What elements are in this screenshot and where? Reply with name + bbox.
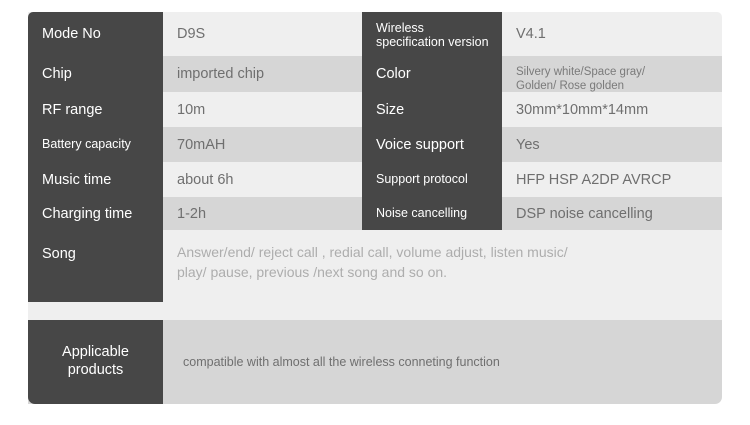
value-color-line2: Golden/ Rose golden [516,79,722,93]
value-wireless-specification-version: V4.1 [502,12,722,56]
label-wireless-specification-version: Wireless specification version [362,12,502,56]
label-charging-time: Charging time [28,197,163,230]
value-charging-time: 1-2h [163,197,362,230]
label-music-time: Music time [28,162,163,197]
value-music-time: about 6h [163,162,362,197]
value-rf-range: 10m [163,92,362,127]
value-noise-cancelling: DSP noise cancelling [502,197,722,230]
label-rf-range: RF range [28,92,163,127]
label-chip: Chip [28,56,163,92]
row-stripe-gap [28,302,722,320]
label-battery-capacity: Battery capacity [28,127,163,162]
value-mode-no: D9S [163,12,362,56]
label-color: Color [362,56,502,92]
label-noise-cancelling: Noise cancelling [362,197,502,230]
label-mode-no: Mode No [28,12,163,56]
label-applicable-line1: Applicable [28,343,163,361]
label-applicable-products: Applicable products [28,320,163,404]
label-wireless-line1: Wireless [376,21,502,35]
value-color-line1: Silvery white/Space gray/ [516,65,722,79]
product-specification-table: Mode No Chip RF range Battery capacity M… [28,12,722,404]
label-voice-support: Voice support [362,127,502,162]
value-chip: imported chip [163,56,362,92]
value-applicable-products: compatible with almost all the wireless … [163,320,722,404]
value-color: Silvery white/Space gray/ Golden/ Rose g… [502,56,722,92]
value-song-line2: play/ pause, previous /next song and so … [177,262,722,282]
value-battery-capacity: 70mAH [163,127,362,162]
label-size: Size [362,92,502,127]
value-size: 30mm*10mm*14mm [502,92,722,127]
label-song: Song [28,230,163,278]
value-song-line1: Answer/end/ reject call , redial call, v… [177,242,722,262]
value-song: Answer/end/ reject call , redial call, v… [163,230,722,302]
label-applicable-line2: products [28,361,163,379]
value-voice-support: Yes [502,127,722,162]
value-support-protocol: HFP HSP A2DP AVRCP [502,162,722,197]
label-wireless-line2: specification version [376,35,502,49]
label-support-protocol: Support protocol [362,162,502,197]
